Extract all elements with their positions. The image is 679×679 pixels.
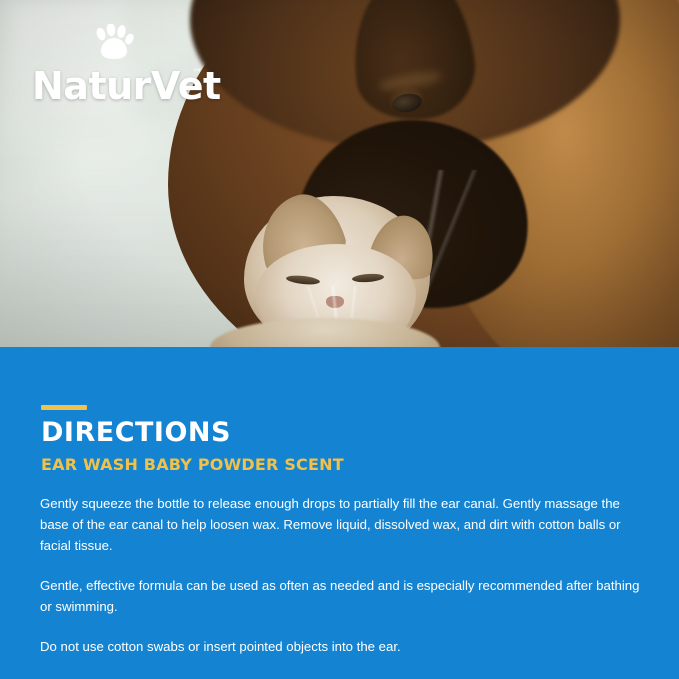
brand-logo: NaturVet ™ bbox=[32, 24, 212, 116]
product-info-card: NaturVet ™ DIRECTIONS EAR WASH BABY POWD… bbox=[0, 0, 679, 679]
accent-rule bbox=[41, 405, 87, 410]
product-subtitle: EAR WASH BABY POWDER SCENT bbox=[41, 455, 344, 474]
hero-photo: NaturVet ™ bbox=[0, 0, 679, 347]
directions-text: Gently squeeze the bottle to release eno… bbox=[40, 493, 640, 657]
directions-paragraph-2: Gentle, effective formula can be used as… bbox=[40, 575, 640, 617]
brand-trademark: ™ bbox=[192, 68, 202, 79]
paw-icon bbox=[92, 24, 136, 60]
directions-paragraph-3: Do not use cotton swabs or insert pointe… bbox=[40, 636, 640, 657]
directions-paragraph-1: Gently squeeze the bottle to release eno… bbox=[40, 493, 640, 556]
directions-panel: DIRECTIONS EAR WASH BABY POWDER SCENT Ge… bbox=[0, 347, 679, 679]
page-title: DIRECTIONS bbox=[41, 417, 231, 448]
